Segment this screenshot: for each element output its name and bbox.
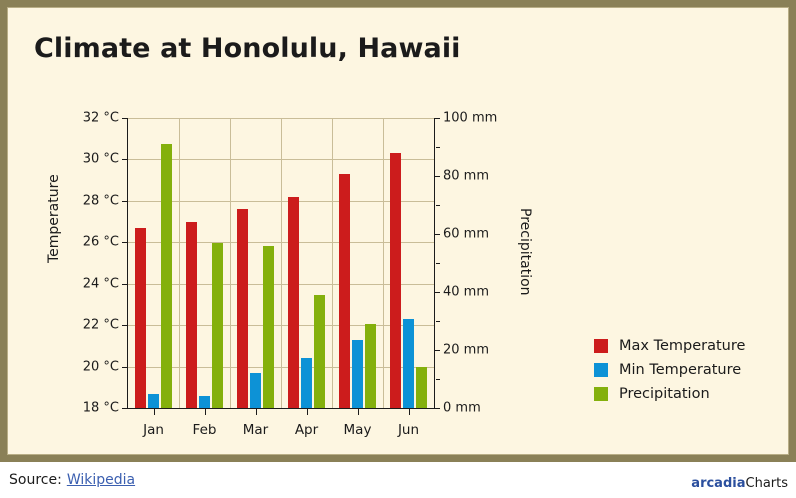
y-tick-label-left: 32 °C [83,111,119,126]
chart-screenshot: Climate at Honolulu, Hawaii Temperature … [0,0,796,498]
y-tick-right [436,147,440,148]
y-axis-title-left: Temperature [46,174,62,263]
x-tick [409,408,410,415]
left-axis-line [127,118,128,408]
legend-item[interactable]: Max Temperature [594,334,745,358]
source-label: Source: [9,472,62,488]
y-tick-label-right: 60 mm [443,227,489,242]
y-tick-label-left: 24 °C [83,276,119,291]
y-tick-label-right: 20 mm [443,343,489,358]
gridline-vertical [383,118,384,408]
chart-card-inner: Climate at Honolulu, Hawaii Temperature … [7,7,789,455]
x-tick-label: May [344,422,372,438]
bar [301,358,312,408]
y-tick-right [434,408,440,409]
x-tick-label: Jan [143,422,164,438]
y-tick-label-left: 26 °C [83,235,119,250]
legend-swatch-icon [594,387,608,401]
x-tick-label: Feb [193,422,217,438]
legend-item[interactable]: Min Temperature [594,358,745,382]
x-tick [256,408,257,415]
legend-item-label: Precipitation [619,386,710,402]
y-tick-label-left: 20 °C [83,359,119,374]
footer-bar: Source:Wikipedia arcadiaCharts [0,462,796,498]
source-note: Source:Wikipedia [9,472,135,488]
y-axis-title-right: Precipitation [517,208,533,296]
right-axis-line [434,118,435,408]
brand-name-bold: arcadia [691,476,745,491]
source-wikipedia-link[interactable]: Wikipedia [67,472,135,488]
bar [199,396,210,408]
legend-item-label: Max Temperature [619,338,745,354]
y-tick-label-left: 28 °C [83,193,119,208]
gridline-vertical [179,118,180,408]
y-tick-left [122,367,128,368]
legend-swatch-icon [594,363,608,377]
gridline-vertical [230,118,231,408]
gridline-vertical [281,118,282,408]
y-tick-left [122,325,128,326]
y-tick-right [436,205,440,206]
y-tick-left [122,159,128,160]
bar [314,295,325,408]
x-tick [205,408,206,415]
bar [161,144,172,408]
y-tick-left [122,118,128,119]
y-tick-label-right: 40 mm [443,285,489,300]
x-tick-label: Jun [398,422,419,438]
x-tick-label: Apr [295,422,318,438]
bar [339,174,350,408]
legend-item[interactable]: Precipitation [594,382,745,406]
chart-title: Climate at Honolulu, Hawaii [34,33,461,64]
y-tick-right [436,379,440,380]
bottom-axis-line [127,408,435,409]
y-tick-right [436,321,440,322]
bar [365,324,376,408]
bar [148,394,159,409]
x-tick [358,408,359,415]
bar [416,367,427,408]
bar [263,246,274,408]
y-tick-left [122,201,128,202]
x-tick [154,408,155,415]
x-tick [307,408,308,415]
bar [352,340,363,408]
y-tick-left [122,284,128,285]
y-tick-label-right: 100 mm [443,111,497,126]
bar [403,319,414,408]
y-tick-right [436,263,440,264]
brand-watermark: arcadiaCharts [691,476,788,491]
bar [250,373,261,408]
chart-legend: Max TemperatureMin TemperaturePrecipitat… [594,334,745,406]
bar [237,209,248,408]
chart-card: Climate at Honolulu, Hawaii Temperature … [0,0,796,462]
gridline-vertical [332,118,333,408]
y-tick-right [434,118,440,119]
bar [186,222,197,408]
legend-item-label: Min Temperature [619,362,741,378]
bar [212,243,223,408]
x-tick-label: Mar [243,422,268,438]
plot-area: 32 °C30 °C28 °C26 °C24 °C22 °C20 °C18 °C… [128,118,434,408]
y-tick-label-right: 80 mm [443,169,489,184]
y-tick-right [434,176,440,177]
y-tick-right [434,292,440,293]
y-tick-left [122,408,128,409]
legend-swatch-icon [594,339,608,353]
bar [390,153,401,408]
y-tick-label-left: 22 °C [83,318,119,333]
y-tick-right [434,234,440,235]
y-tick-label-left: 18 °C [83,401,119,416]
bar [135,228,146,408]
y-tick-label-right: 0 mm [443,401,481,416]
y-tick-right [434,350,440,351]
y-tick-left [122,242,128,243]
y-tick-label-left: 30 °C [83,152,119,167]
bar [288,197,299,408]
brand-name-rest: Charts [746,476,789,491]
